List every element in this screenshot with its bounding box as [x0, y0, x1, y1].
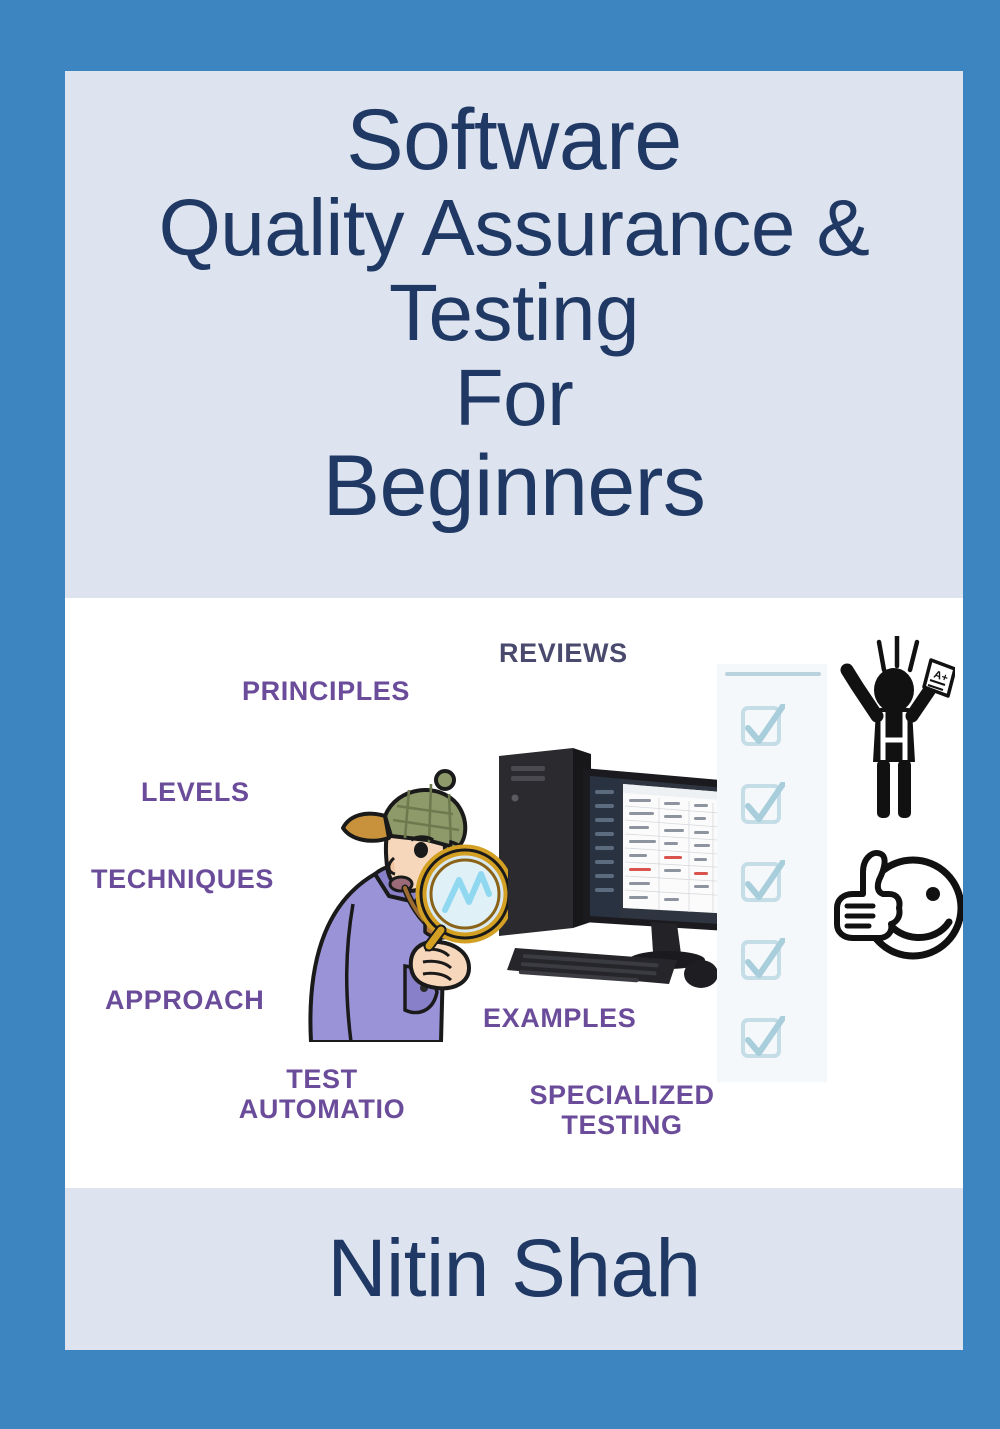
- checkbox-checked-icon: [739, 704, 785, 750]
- keyword-specialized-testing: SPECIALIZED TESTING: [502, 1080, 742, 1140]
- cheering-student-icon: A+: [835, 636, 955, 821]
- keyword-specialized-line2: TESTING: [502, 1110, 742, 1140]
- keyword-specialized-line1: SPECIALIZED: [502, 1080, 742, 1110]
- detective-magnifier-icon: [293, 754, 508, 1042]
- title-line-2: Quality Assurance &: [159, 186, 870, 271]
- title-line-1: Software: [346, 95, 681, 186]
- keyword-test-automation: TEST AUTOMATIO: [222, 1064, 422, 1124]
- checkbox-checked-icon: [739, 938, 785, 984]
- cover-inner-panel: Software Quality Assurance & Testing For…: [65, 71, 963, 1350]
- keyword-test-automation-line2: AUTOMATIO: [222, 1094, 422, 1124]
- keyword-approach: APPROACH: [105, 985, 264, 1015]
- checkbox-checked-icon: [739, 1016, 785, 1062]
- thumbs-up-smiley-icon: [825, 836, 963, 966]
- keyword-levels: LEVELS: [141, 777, 250, 807]
- checkbox-checked-icon: [739, 860, 785, 906]
- author-band: Nitin Shah: [65, 1188, 963, 1350]
- title-line-4: For: [455, 356, 574, 441]
- book-cover: Software Quality Assurance & Testing For…: [0, 0, 1000, 1429]
- checklist-divider: [725, 672, 821, 676]
- title-line-5: Beginners: [323, 441, 706, 532]
- checkbox-checked-icon: [739, 782, 785, 828]
- keyword-principles: PRINCIPLES: [242, 676, 410, 706]
- keyword-test-automation-line1: TEST: [222, 1064, 422, 1094]
- title-band: Software Quality Assurance & Testing For…: [65, 71, 963, 598]
- checklist-graphic: [717, 664, 827, 1082]
- keyword-reviews: REVIEWS: [499, 638, 628, 668]
- title-line-3: Testing: [389, 271, 639, 356]
- author-name: Nitin Shah: [327, 1222, 700, 1316]
- keyword-techniques: TECHNIQUES: [91, 864, 274, 894]
- cover-illustration: REVIEWS PRINCIPLES LEVELS TECHNIQUES APP…: [65, 598, 963, 1188]
